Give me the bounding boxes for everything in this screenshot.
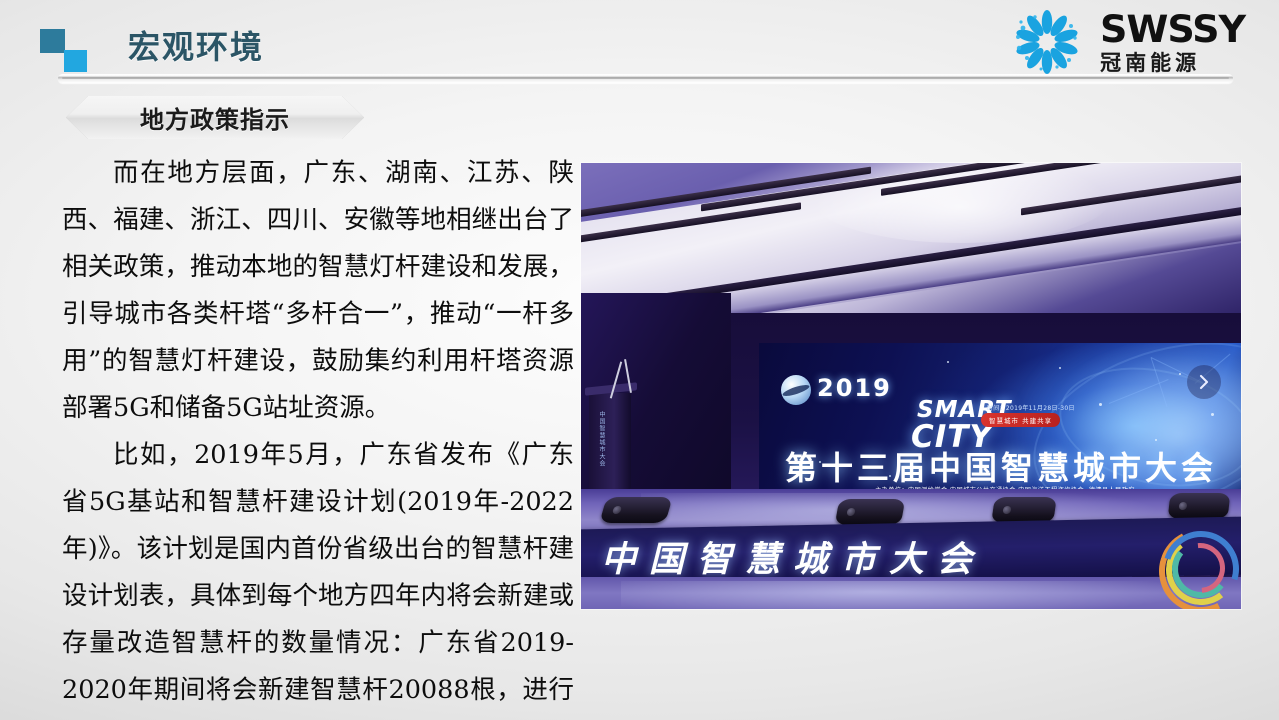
water-droplet-radial-icon (1008, 6, 1086, 78)
conference-stage-photo: 2019 SMART CITY 时间：2019年11月28日-30日 智慧城市 … (581, 163, 1241, 609)
body-paragraph-1: 而在地方层面，广东、湖南、江苏、陕西、福建、浙江、四川、安徽等地相继出台了相关政… (62, 150, 574, 432)
led-globe-icon (781, 375, 811, 405)
decor-square-dark-icon (40, 29, 65, 53)
section-tag: 地方政策指示 (66, 96, 364, 139)
photo-stage-band-text: 中国智慧城市大会 (601, 531, 1241, 582)
led-slogan-pill: 智慧城市 共建共享 (981, 413, 1060, 427)
decor-square-light-icon (64, 50, 87, 72)
slide-header: 宏观环境 (0, 0, 1279, 90)
photo-stage-monitor (991, 497, 1057, 523)
body-paragraph-2: 比如，2019年5月，广东省发布《广东省5G基站和智慧杆建设计划(2019年-2… (62, 432, 574, 720)
multicolor-arc-logo-icon (1159, 529, 1233, 603)
brand-logo-text: SWSSY 冠南能源 (1100, 11, 1241, 74)
led-main-title: 第十三届中国智慧城市大会 (775, 443, 1227, 489)
led-year: 2019 (817, 374, 892, 402)
photo-stage-monitor (599, 497, 672, 523)
section-tag-label: 地方政策指示 (66, 96, 364, 139)
chevron-right-icon[interactable] (1187, 365, 1221, 399)
photo-podium (589, 393, 631, 489)
page-title: 宏观环境 (128, 22, 264, 68)
body-copy: 而在地方层面，广东、湖南、江苏、陕西、福建、浙江、四川、安徽等地相继出台了相关政… (62, 150, 574, 720)
photo-stage-apron-sheen (621, 581, 1181, 609)
photo-podium-text: 中国智慧城市大会 (597, 411, 606, 467)
photo-stage-monitor (1168, 493, 1231, 519)
photo-stage-monitor (835, 499, 906, 525)
led-date-line: 时间：2019年11月28日-30日 (987, 403, 1075, 412)
slide-canvas: 宏观环境 (0, 0, 1279, 720)
brand-wordmark: SWSSY (1100, 11, 1245, 48)
photo-led-screen: 2019 SMART CITY 时间：2019年11月28日-30日 智慧城市 … (759, 343, 1241, 509)
header-decor-squares (40, 29, 92, 73)
brand-logo: SWSSY 冠南能源 (1008, 6, 1241, 78)
brand-chinese-name: 冠南能源 (1100, 53, 1241, 74)
